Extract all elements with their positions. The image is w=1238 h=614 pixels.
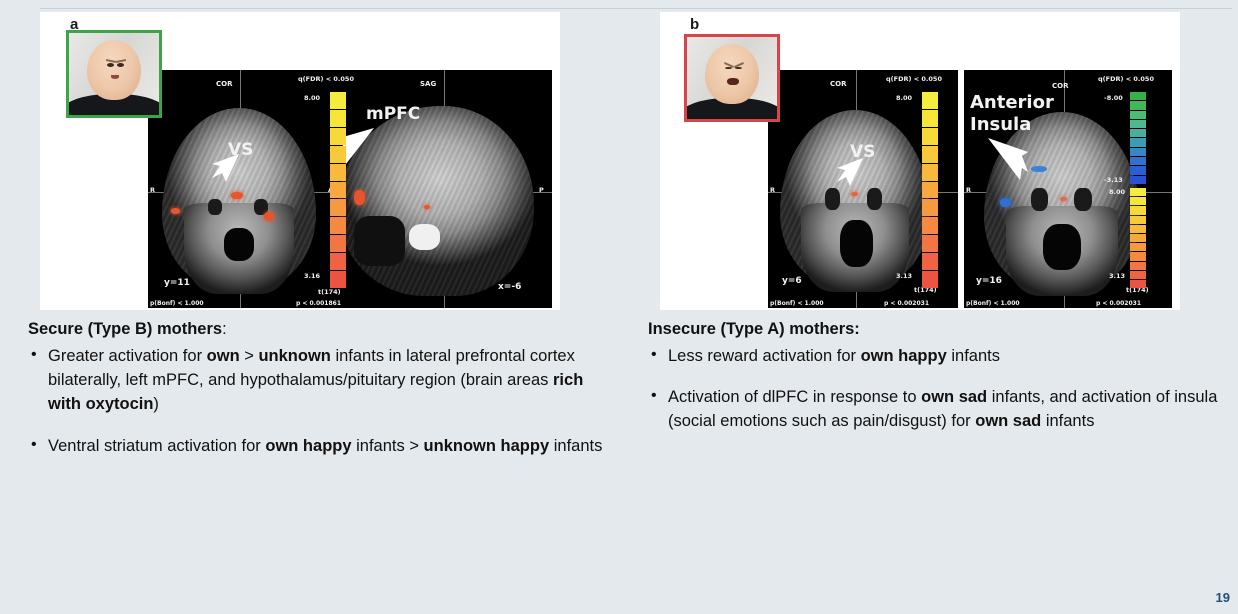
bullet-emphasis: own (207, 347, 240, 365)
panel-a-mri-canvas: COR SAG q(FDR) < 0.050 8.00 3.16 t(174) … (148, 70, 552, 308)
bullet-text: Ventral striatum activation for (48, 437, 265, 455)
bullet-emphasis: own sad (975, 412, 1041, 430)
fdr-threshold-label-b1: q(FDR) < 0.050 (886, 75, 942, 83)
colorbar-swatch (1130, 92, 1146, 100)
fdr-threshold-label-a: q(FDR) < 0.050 (298, 75, 354, 83)
colorbar-swatch (1130, 188, 1146, 196)
colorbar-swatch (1130, 262, 1146, 270)
colorbar-swatch (922, 271, 938, 288)
slice-label-y-a: y=11 (164, 278, 190, 288)
colorbar-swatch (1130, 138, 1146, 146)
colorbar-swatch (1130, 166, 1146, 174)
panel-b-mri-right: COR q(FDR) < 0.050 -8.00 -3.13 8.00 3.13… (964, 70, 1172, 308)
bullet-text: Activation of dlPFC in response to (668, 388, 921, 406)
secure-heading-bold: Secure (Type B) mothers (28, 320, 222, 338)
happy-infant-photo (66, 30, 162, 118)
insecure-mothers-text-block: Insecure (Type A) mothers: Less reward a… (648, 318, 1233, 451)
orientation-label-cor-b1: COR (830, 80, 846, 88)
colorbar-swatch (922, 92, 938, 109)
colorbar-swatch (922, 182, 938, 199)
colorbar-swatch (330, 182, 346, 199)
slice-label-y-b1: y=6 (782, 276, 802, 286)
colorbar-swatch (330, 253, 346, 270)
bullet-text: Less reward activation for (668, 347, 861, 365)
bullet-text: infants > (352, 437, 424, 455)
bullet-item: Ventral striatum activation for own happ… (28, 434, 613, 458)
marker-P-a: P (539, 186, 544, 194)
bullet-emphasis: own happy (265, 437, 351, 455)
scale-min-label-a: 3.16 (304, 272, 320, 280)
colorbar-swatch (922, 253, 938, 270)
colorbar-swatch (330, 199, 346, 216)
bonferroni-label-b1: p(Bonf) < 1.000 (770, 300, 824, 307)
colorbar-swatch (922, 110, 938, 127)
arrow-to-vs-a (208, 152, 242, 188)
bullet-text: infants (947, 347, 1000, 365)
colorbar-swatch (1130, 252, 1146, 260)
colorbar-swatch (330, 217, 346, 234)
scale-max-label-a: 8.00 (304, 94, 320, 102)
p-value-label-b1: p < 0.002031 (884, 300, 929, 307)
colorbar-swatch (922, 199, 938, 216)
arrow-to-vs-b (834, 156, 866, 192)
colorbar-swatch (922, 217, 938, 234)
annotation-anterior-insula-line2: Insula (970, 114, 1031, 135)
annotation-mpfc-a: mPFC (366, 104, 420, 124)
colorbar-swatch (1130, 271, 1146, 279)
colorbar-swatch (330, 146, 346, 163)
neg-scale-max-label-b2: -8.00 (1104, 94, 1123, 102)
colorbar-swatch (922, 164, 938, 181)
colorbar-swatch (922, 128, 938, 145)
scale-max-label-b1: 8.00 (896, 94, 912, 102)
orientation-label-cor-b2: COR (1052, 82, 1068, 90)
fdr-threshold-label-b2: q(FDR) < 0.050 (1098, 75, 1154, 83)
figure-panel-a: a (40, 12, 560, 310)
colorbar-swatch (1130, 197, 1146, 205)
colorbar-swatch (922, 235, 938, 252)
secure-bullet-list: Greater activation for own > unknown inf… (28, 344, 613, 457)
bullet-emphasis: unknown (258, 347, 330, 365)
colorbar-hot-b1 (922, 92, 938, 288)
colorbar-hot-b2 (1130, 188, 1146, 288)
colorbar-swatch (1130, 234, 1146, 242)
colorbar-swatch (1130, 101, 1146, 109)
colorbar-swatch (1130, 216, 1146, 224)
insecure-heading-bold: Insecure (Type A) mothers: (648, 320, 860, 338)
p-value-label-a: p < 0.001861 (296, 300, 341, 307)
colorbar-swatch (922, 146, 938, 163)
bonferroni-label-a: p(Bonf) < 1.000 (150, 300, 204, 307)
colorbar-swatch (1130, 176, 1146, 184)
annotation-anterior-insula-line1: Anterior (970, 92, 1054, 113)
header-divider (40, 8, 1232, 9)
bullet-text: Greater activation for (48, 347, 207, 365)
panel-b-letter: b (690, 16, 699, 33)
panel-b-mri-left: COR q(FDR) < 0.050 8.00 3.13 t(174) p < … (768, 70, 958, 308)
coronal-brain-image-b1 (780, 110, 930, 288)
colorbar-swatch (1130, 111, 1146, 119)
colorbar-swatch (330, 271, 346, 288)
p-value-label-b2: p < 0.002031 (1096, 300, 1141, 307)
colorbar-cool-b2 (1130, 92, 1146, 184)
secure-heading-tail: : (222, 320, 227, 338)
stat-label-a: t(174) (318, 288, 341, 296)
colorbar-swatch (1130, 129, 1146, 137)
orientation-label-sag-a: SAG (420, 80, 436, 88)
colorbar-hot-a (330, 92, 346, 288)
sad-infant-photo (684, 34, 780, 122)
bullet-item: Activation of dlPFC in response to own s… (648, 385, 1233, 433)
colorbar-swatch (1130, 225, 1146, 233)
neg-scale-min-label-b2: -3.13 (1104, 176, 1123, 184)
colorbar-swatch (1130, 157, 1146, 165)
bullet-emphasis: unknown happy (424, 437, 550, 455)
orientation-label-cor-a: COR (216, 80, 232, 88)
insecure-bullet-list: Less reward activation for own happy inf… (648, 344, 1233, 433)
secure-mothers-text-block: Secure (Type B) mothers: Greater activat… (28, 318, 613, 475)
bullet-text: ) (153, 395, 159, 413)
slice-label-y-b2: y=16 (976, 276, 1002, 286)
colorbar-swatch (1130, 206, 1146, 214)
colorbar-swatch (1130, 148, 1146, 156)
pos-scale-min-label-b2: 3.13 (1109, 272, 1125, 280)
slice-label-x-a: x=-6 (498, 282, 521, 292)
page-number: 19 (1216, 590, 1230, 614)
colorbar-swatch (1130, 280, 1146, 288)
colorbar-swatch (330, 128, 346, 145)
bullet-item: Greater activation for own > unknown inf… (28, 344, 613, 416)
colorbar-swatch (1130, 243, 1146, 251)
bullet-text: infants (549, 437, 602, 455)
bullet-emphasis: own sad (921, 388, 987, 406)
secure-heading: Secure (Type B) mothers: (28, 318, 613, 340)
bullet-text: > (240, 347, 259, 365)
marker-R-b1: R (770, 186, 775, 194)
insecure-heading: Insecure (Type A) mothers: (648, 318, 1233, 340)
arrow-to-insula (986, 136, 1030, 188)
bullet-text: infants (1041, 412, 1094, 430)
colorbar-swatch (330, 164, 346, 181)
bonferroni-label-b2: p(Bonf) < 1.000 (966, 300, 1020, 307)
colorbar-swatch (330, 92, 346, 109)
marker-R-a: R (150, 186, 155, 194)
marker-R-b2: R (966, 186, 971, 194)
pos-scale-max-label-b2: 8.00 (1109, 188, 1125, 196)
colorbar-swatch (1130, 120, 1146, 128)
colorbar-swatch (330, 110, 346, 127)
scale-min-label-b1: 3.13 (896, 272, 912, 280)
coronal-brain-image (162, 108, 316, 290)
bullet-emphasis: own happy (861, 347, 947, 365)
colorbar-swatch (330, 235, 346, 252)
bullet-item: Less reward activation for own happy inf… (648, 344, 1233, 368)
figure-panel-b: b COR q(FDR) < 0.050 8.0 (660, 12, 1180, 310)
